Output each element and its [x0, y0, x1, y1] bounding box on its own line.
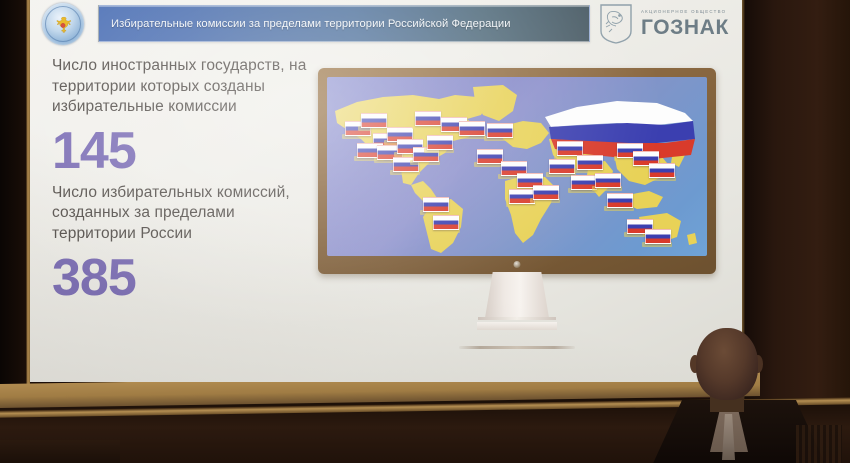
- monitor-stand-lower: [477, 322, 557, 330]
- map-marker-flag-10: [415, 111, 441, 126]
- slide-header: Избирательные комиссии за пределами терр…: [30, 0, 742, 48]
- russia-flag-band-0: [545, 101, 693, 127]
- map-marker-flag-20: [533, 185, 559, 200]
- goznak-logo: АКЦИОНЕРНОЕ ОБЩЕСТВО ГОЗНАК: [598, 2, 736, 46]
- stat-caption-commissions: Число избирательных комиссий, созданных …: [52, 183, 314, 245]
- goznak-eagle-shield-icon: [598, 3, 634, 45]
- map-marker-flag-21: [557, 141, 583, 156]
- screenshot-stage: Избирательные комиссии за пределами терр…: [0, 0, 850, 463]
- slide-title: Избирательные комиссии за пределами терр…: [99, 18, 511, 30]
- monitor-stand-neck: [485, 272, 549, 318]
- map-marker-flag-23: [577, 155, 603, 170]
- speaker-head: [696, 328, 758, 400]
- map-marker-flag-16: [477, 149, 503, 164]
- monitor-screen: [327, 77, 707, 256]
- goznak-subtitle: АКЦИОНЕРНОЕ ОБЩЕСТВО: [641, 10, 729, 14]
- stat-value-countries: 145: [52, 125, 314, 177]
- map-marker-flag-28: [649, 163, 675, 178]
- map-marker-flag-25: [595, 173, 621, 188]
- monitor-bezel: [318, 68, 716, 274]
- monitor-stand-line: [478, 317, 556, 320]
- projection-slide: Избирательные комиссии за пределами терр…: [30, 0, 742, 382]
- cec-russia-coat-of-arms-icon: [42, 3, 84, 45]
- double-headed-eagle-glyph: [51, 13, 75, 37]
- slide-title-bar: Избирательные комиссии за пределами терр…: [98, 5, 590, 42]
- room-baseboard: [0, 440, 120, 463]
- stat-value-commissions: 385: [52, 252, 314, 304]
- monitor-camera-dot: [514, 261, 521, 268]
- map-marker-flag-13: [423, 197, 449, 212]
- world-map: [327, 77, 707, 256]
- room-radiator: [796, 425, 842, 463]
- stat-caption-countries: Число иностранных государств, на террито…: [52, 56, 314, 118]
- map-marker-flag-9: [427, 135, 453, 150]
- landmass: [473, 85, 517, 121]
- stats-column: Число иностранных государств, на террито…: [52, 56, 314, 310]
- monitor-illustration: [318, 68, 716, 290]
- map-marker-flag-15: [487, 123, 513, 138]
- monitor-stand-base: [459, 346, 575, 349]
- map-marker-flag-31: [645, 229, 671, 244]
- map-marker-flag-29: [607, 193, 633, 208]
- map-marker-flag-22: [549, 159, 575, 174]
- landmass: [687, 233, 697, 245]
- map-marker-flag-14: [433, 215, 459, 230]
- map-marker-flag-12: [459, 121, 485, 136]
- goznak-wordmark: ГОЗНАК: [641, 17, 729, 38]
- map-marker-flag-1: [361, 113, 387, 128]
